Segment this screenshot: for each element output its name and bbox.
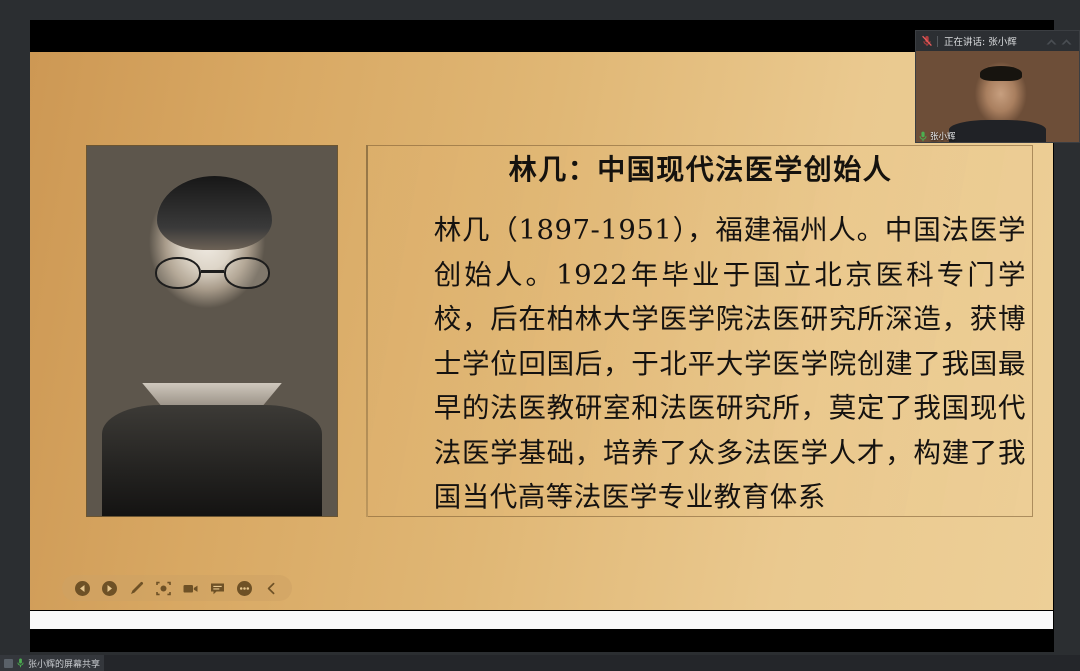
more-options-button[interactable] [236,580,253,597]
comment-icon [209,580,226,597]
pen-tool-button[interactable] [128,580,145,597]
lens-left [155,257,201,289]
camera-icon [182,580,199,597]
panel-collapse-controls[interactable] [1045,36,1075,47]
prev-icon [74,580,91,597]
portrait-torso [102,405,322,516]
video-button[interactable] [182,580,199,597]
video-panel[interactable]: 正在讲话: 张小辉 张小辉 [915,30,1080,143]
collapse-toolbar-button[interactable] [263,580,280,597]
more-icon [236,580,253,597]
taskbar-item-screen-share[interactable]: 张小辉的屏幕共享 [0,655,104,671]
mic-muted-icon [920,34,934,48]
participant-shoulders [949,120,1047,143]
comment-button[interactable] [209,580,226,597]
participant-video-feed[interactable]: 张小辉 [916,51,1079,143]
screen: 林几：中国现代法医学创始人 林几（1897-1951），福建福州人。中国法医学创… [0,0,1080,671]
black-strip [30,629,1053,652]
previous-slide-button[interactable] [74,580,91,597]
glasses-bridge [201,270,224,273]
portrait-image [87,146,337,516]
participant-hair [980,66,1022,81]
pointer-icon [155,580,172,597]
portrait-photo [86,145,338,517]
taskbar-item-label: 张小辉的屏幕共享 [28,657,100,670]
participant-name-label: 张小辉 [919,130,956,142]
presentation-slide[interactable]: 林几：中国现代法医学创始人 林几（1897-1951），福建福州人。中国法医学创… [30,52,1053,610]
speaking-status-text: 正在讲话: 张小辉 [944,34,1017,48]
next-slide-button[interactable] [101,580,118,597]
chevron-left-icon [263,580,280,597]
mic-active-icon [919,131,927,142]
slide-title: 林几：中国现代法医学创始人 [368,148,1033,188]
participant-name: 张小辉 [930,130,956,142]
portrait-glasses [155,257,270,289]
chevron-up-icon [1060,36,1073,47]
white-strip [30,611,1053,629]
slide-body-text: 林几（1897-1951），福建福州人。中国法医学创始人。1922年毕业于国立北… [376,208,1026,520]
laser-pointer-button[interactable] [155,580,172,597]
slide-paragraph: 林几（1897-1951），福建福州人。中国法医学创始人。1922年毕业于国立北… [376,208,1026,520]
chevron-up-icon [1045,36,1058,47]
portrait-hair [157,176,272,250]
next-icon [101,580,118,597]
presentation-toolbar[interactable] [62,575,292,601]
header-separator [937,36,938,47]
taskbar[interactable]: 张小辉的屏幕共享 [0,655,1080,671]
video-panel-header[interactable]: 正在讲话: 张小辉 [916,31,1079,51]
mic-active-icon [17,658,24,668]
screen-share-icon [4,659,13,668]
pen-icon [128,580,145,597]
lens-right [224,257,270,289]
